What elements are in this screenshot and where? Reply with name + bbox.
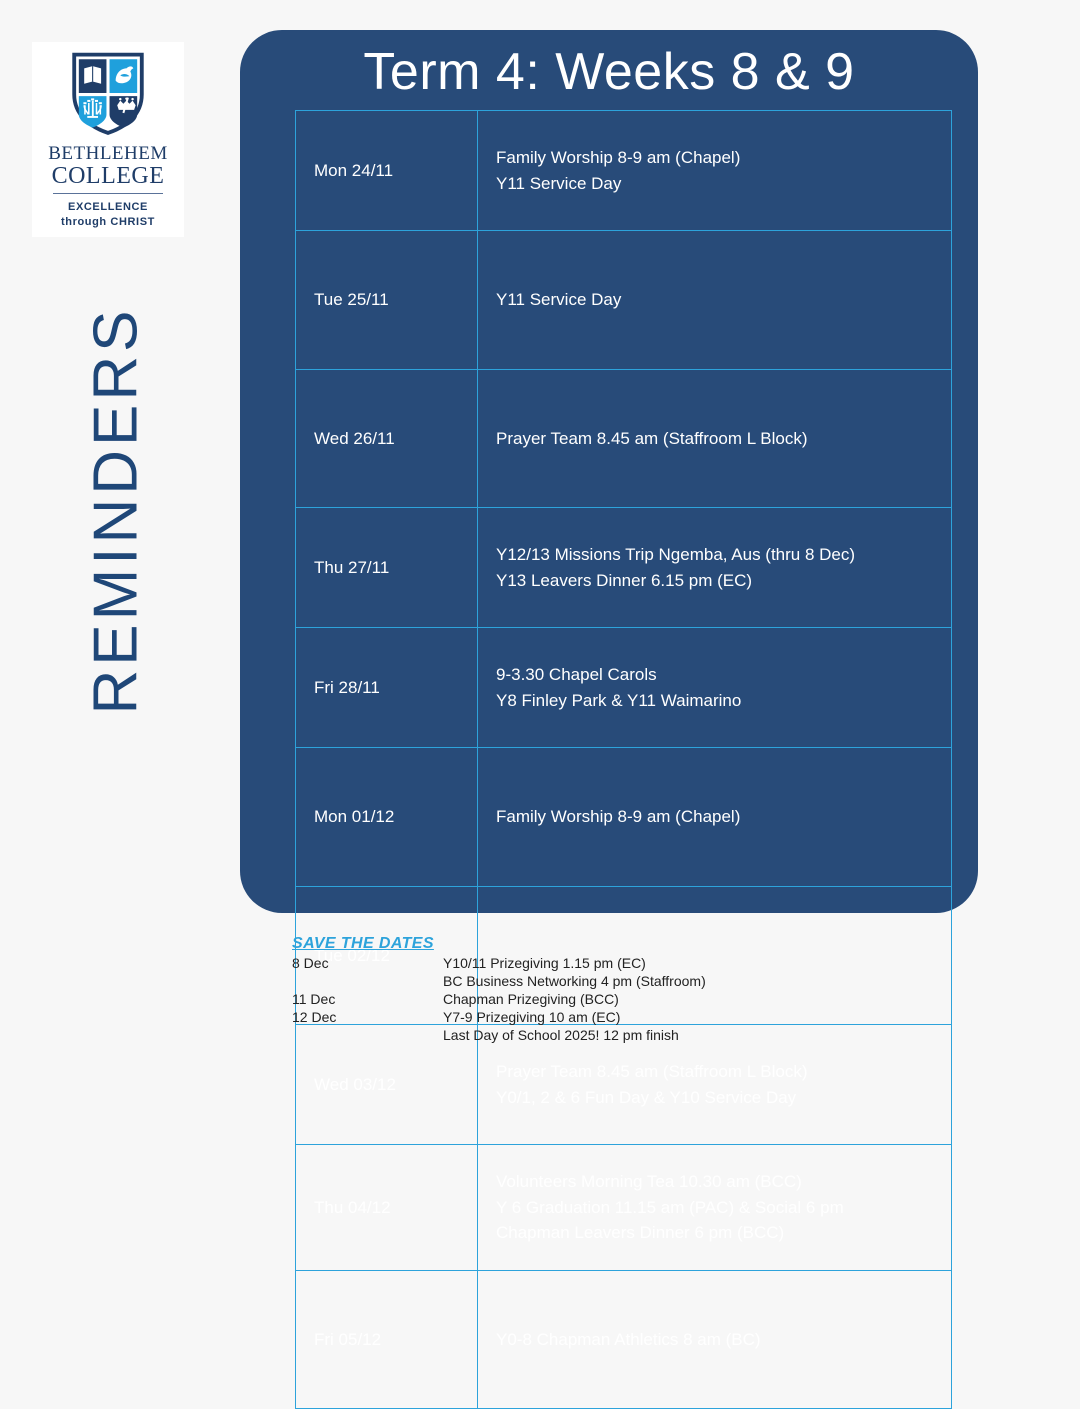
save-the-dates-row: 12 DecY7-9 Prizegiving 10 am (EC) xyxy=(292,1009,992,1027)
schedule-event-line: Prayer Team 8.45 am (Staffroom L Block) xyxy=(496,426,951,452)
table-row: Thu 27/11Y12/13 Missions Trip Ngemba, Au… xyxy=(296,508,952,628)
save-the-dates-date: 11 Dec xyxy=(292,991,443,1009)
table-row: Mon 24/11Family Worship 8-9 am (Chapel)Y… xyxy=(296,111,952,231)
save-the-dates-date: 12 Dec xyxy=(292,1009,443,1027)
schedule-day-cell: Thu 04/12 xyxy=(296,1145,478,1271)
table-row: Fri 05/12Y0-8 Chapman Athletics 8 am (BC… xyxy=(296,1270,952,1409)
save-the-dates-row: Last Day of School 2025! 12 pm finish xyxy=(292,1027,992,1045)
logo-name-line-1: BETHLEHEM xyxy=(48,144,168,163)
save-the-dates-row: 11 DecChapman Prizegiving (BCC) xyxy=(292,991,992,1009)
schedule-day-cell: Thu 27/11 xyxy=(296,508,478,628)
save-the-dates-heading: SAVE THE DATES xyxy=(292,935,992,953)
save-the-dates-description: Chapman Prizegiving (BCC) xyxy=(443,991,619,1009)
logo-tagline-line-2: through CHRIST xyxy=(61,215,155,230)
schedule-events-cell: Family Worship 8-9 am (Chapel)Y11 Servic… xyxy=(478,111,952,231)
save-the-dates-description: BC Business Networking 4 pm (Staffroom) xyxy=(443,973,706,991)
schedule-event-line: Y 6 Graduation 11.15 am (PAC) & Social 6… xyxy=(496,1195,951,1221)
schedule-event-line: Prayer Team 8.45 am (Staffroom L Block) xyxy=(496,1059,951,1085)
logo-tagline-line-1: EXCELLENCE xyxy=(68,200,148,215)
schedule-event-line: Y0/1, 2 & 6 Fun Day & Y10 Service Day xyxy=(496,1085,951,1111)
schedule-event-line: Y8 Finley Park & Y11 Waimarino xyxy=(496,688,951,714)
schedule-event-line: Y0-8 Chapman Athletics 8 am (BC) xyxy=(496,1327,951,1353)
schedule-event-line: Y11 Service Day xyxy=(496,287,951,313)
schedule-event-line: Y12/13 Missions Trip Ngemba, Aus (thru 8… xyxy=(496,542,951,568)
save-the-dates-description: Y10/11 Prizegiving 1.15 pm (EC) xyxy=(443,955,646,973)
schedule-day-cell: Wed 26/11 xyxy=(296,369,478,508)
schedule-event-line: Y11 Service Day xyxy=(496,171,951,197)
table-row: Mon 01/12Family Worship 8-9 am (Chapel) xyxy=(296,748,952,887)
schedule-day-cell: Tue 25/11 xyxy=(296,231,478,370)
schedule-day-cell: Fri 28/11 xyxy=(296,628,478,748)
save-the-dates-description: Y7-9 Prizegiving 10 am (EC) xyxy=(443,1009,620,1027)
schedule-events-cell: Prayer Team 8.45 am (Staffroom L Block) xyxy=(478,369,952,508)
schedule-events-cell: Family Worship 8-9 am (Chapel) xyxy=(478,748,952,887)
schedule-event-line: Volunteers Morning Tea 10.30 am (BCC) xyxy=(496,1169,951,1195)
table-row: Tue 25/11Y11 Service Day xyxy=(296,231,952,370)
save-the-dates-row: BC Business Networking 4 pm (Staffroom) xyxy=(292,973,992,991)
schedule-events-cell: Y11 Service Day xyxy=(478,231,952,370)
schedule-event-line: Y13 Leavers Dinner 6.15 pm (EC) xyxy=(496,568,951,594)
schedule-events-cell: Y0-8 Chapman Athletics 8 am (BC) xyxy=(478,1270,952,1409)
table-row: Wed 26/11Prayer Team 8.45 am (Staffroom … xyxy=(296,369,952,508)
schedule-events-cell: Volunteers Morning Tea 10.30 am (BCC)Y 6… xyxy=(478,1145,952,1271)
save-the-dates-row: 8 DecY10/11 Prizegiving 1.15 pm (EC) xyxy=(292,955,992,973)
schedule-card: Term 4: Weeks 8 & 9 Mon 24/11Family Wors… xyxy=(240,30,978,913)
schedule-event-line: 9-3.30 Chapel Carols xyxy=(496,662,951,688)
schedule-events-cell: Y12/13 Missions Trip Ngemba, Aus (thru 8… xyxy=(478,508,952,628)
reminders-vertical-banner: REMINDERS xyxy=(0,300,232,720)
left-rail: BETHLEHEM COLLEGE EXCELLENCE through CHR… xyxy=(0,0,232,1080)
save-the-dates-section: SAVE THE DATES 8 DecY10/11 Prizegiving 1… xyxy=(292,935,992,1045)
schedule-event-line: Chapman Leavers Dinner 6 pm (BCC) xyxy=(496,1220,951,1246)
logo-name-line-2: COLLEGE xyxy=(52,164,165,188)
reminders-label: REMINDERS xyxy=(81,306,152,714)
schedule-day-cell: Fri 05/12 xyxy=(296,1270,478,1409)
schedule-day-cell: Mon 01/12 xyxy=(296,748,478,887)
shield-crest-icon xyxy=(69,50,147,136)
save-the-dates-list: 8 DecY10/11 Prizegiving 1.15 pm (EC)BC B… xyxy=(292,955,992,1045)
schedule-table: Mon 24/11Family Worship 8-9 am (Chapel)Y… xyxy=(295,110,952,1409)
schedule-events-cell: 9-3.30 Chapel CarolsY8 Finley Park & Y11… xyxy=(478,628,952,748)
save-the-dates-description: Last Day of School 2025! 12 pm finish xyxy=(443,1027,679,1045)
table-row: Fri 28/119-3.30 Chapel CarolsY8 Finley P… xyxy=(296,628,952,748)
schedule-day-cell: Mon 24/11 xyxy=(296,111,478,231)
save-the-dates-date: 8 Dec xyxy=(292,955,443,973)
logo-divider xyxy=(53,193,163,194)
schedule-event-line: Family Worship 8-9 am (Chapel) xyxy=(496,804,951,830)
schedule-event-line: Family Worship 8-9 am (Chapel) xyxy=(496,145,951,171)
page-title: Term 4: Weeks 8 & 9 xyxy=(240,42,978,102)
school-logo: BETHLEHEM COLLEGE EXCELLENCE through CHR… xyxy=(32,42,184,237)
table-row: Thu 04/12Volunteers Morning Tea 10.30 am… xyxy=(296,1145,952,1271)
